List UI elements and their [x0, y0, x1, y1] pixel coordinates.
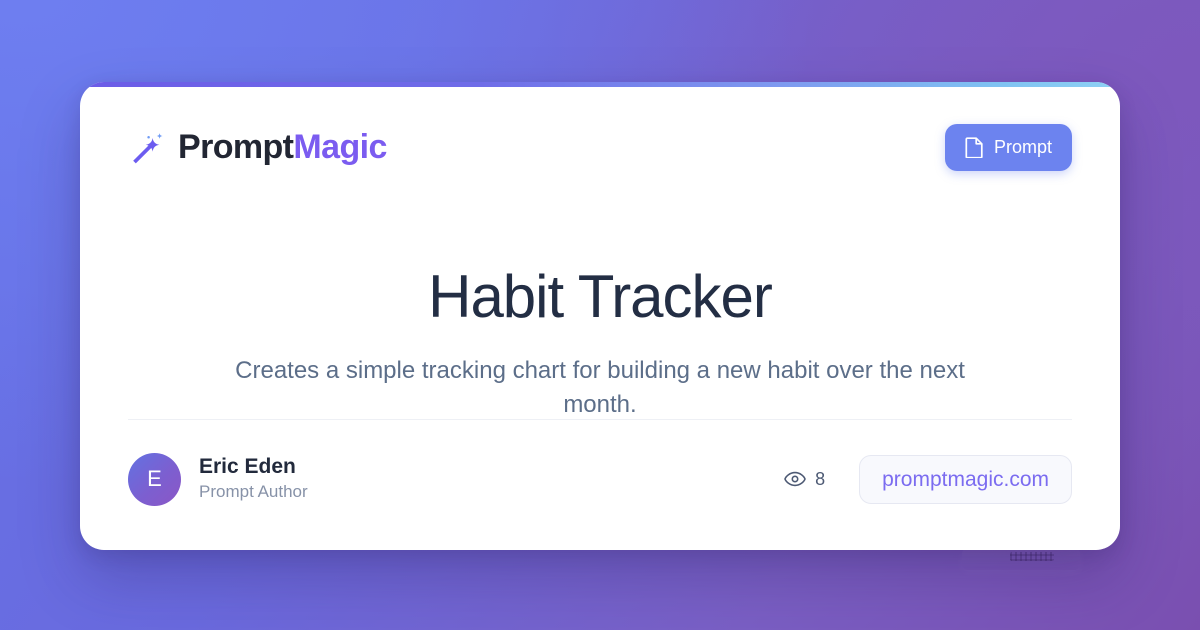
- page-title: Habit Tracker: [200, 265, 1000, 328]
- page-description: Creates a simple tracking chart for buil…: [200, 354, 1000, 422]
- author-text: Eric Eden Prompt Author: [199, 455, 308, 503]
- card-shadow-artifact: [962, 548, 1080, 570]
- footer-right: 8 promptmagic.com: [784, 455, 1072, 504]
- brand-name: PromptMagic: [178, 130, 387, 164]
- author-name: Eric Eden: [199, 455, 308, 479]
- card-header: PromptMagic Prompt: [80, 87, 1120, 207]
- avatar: E: [128, 453, 181, 506]
- card-footer: E Eric Eden Prompt Author 8 promptmagic.…: [128, 446, 1072, 512]
- prompt-button-label: Prompt: [994, 137, 1052, 158]
- share-card: PromptMagic Prompt Habit Tracker Creates…: [80, 82, 1120, 550]
- magic-wand-icon: [128, 128, 164, 166]
- eye-icon: [784, 471, 806, 487]
- author-block: E Eric Eden Prompt Author: [128, 453, 308, 506]
- brand-logo[interactable]: PromptMagic: [128, 128, 387, 166]
- brand-name-primary: Prompt: [178, 128, 293, 166]
- card-body: Habit Tracker Creates a simple tracking …: [80, 207, 1120, 422]
- prompt-button[interactable]: Prompt: [945, 124, 1072, 171]
- author-role: Prompt Author: [199, 481, 308, 503]
- domain-badge[interactable]: promptmagic.com: [859, 455, 1072, 504]
- footer-divider: [128, 419, 1072, 420]
- brand-name-accent: Magic: [293, 128, 386, 166]
- view-count: 8: [784, 469, 825, 490]
- view-count-value: 8: [815, 469, 825, 490]
- file-document-icon: [965, 137, 984, 158]
